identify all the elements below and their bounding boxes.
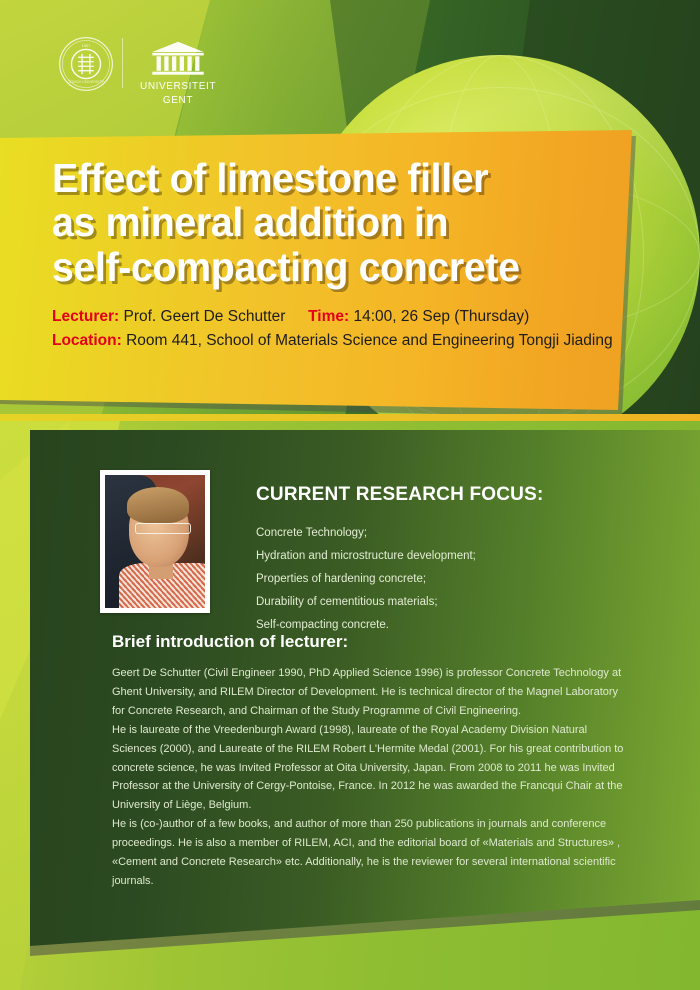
location-row: Location: Room 441, School of Materials … [52, 329, 618, 353]
ghent-logo-line1: UNIVERSITEIT [140, 80, 216, 94]
banner-base-strip [0, 414, 700, 421]
lecturer-time-row: Lecturer: Prof. Geert De Schutter Time: … [52, 305, 618, 329]
title-banner: Effect of limestone filler as mineral ad… [0, 130, 636, 412]
ghent-university-logo: UNIVERSITEIT GENT [140, 40, 216, 107]
title-line-2: as mineral addition in [52, 200, 595, 244]
introduction-paragraph: He is laureate of the Vreedenburgh Award… [112, 721, 632, 816]
lecturer-value: Prof. Geert De Schutter [124, 308, 286, 325]
title-line-3: self-compacting concrete [52, 245, 595, 289]
introduction-paragraph: Geert De Schutter (Civil Engineer 1990, … [112, 664, 632, 721]
time-label: Time: [308, 308, 349, 325]
lecturer-introduction-section: Brief introduction of lecturer: Geert De… [112, 632, 632, 891]
svg-text:TONGJI UNIVERSITY: TONGJI UNIVERSITY [68, 80, 105, 84]
list-item: Concrete Technology; [256, 522, 656, 545]
seminar-poster: 1907 TONGJI UNIVERSITY UNIVERSITEIT GENT… [0, 0, 700, 990]
svg-text:1907: 1907 [82, 43, 91, 48]
list-item: Properties of hardening concrete; [256, 568, 656, 591]
introduction-body: Geert De Schutter (Civil Engineer 1990, … [112, 664, 632, 891]
introduction-heading: Brief introduction of lecturer: [112, 632, 632, 652]
list-item: Hydration and microstructure development… [256, 545, 656, 568]
research-focus-section: CURRENT RESEARCH FOCUS: Concrete Technol… [256, 484, 656, 637]
avatar [100, 470, 210, 613]
lecturer-photo [105, 475, 205, 608]
introduction-paragraph: He is (co-)author of a few books, and au… [112, 815, 632, 891]
list-item: Durability of cementitious materials; [256, 591, 656, 614]
research-focus-heading: CURRENT RESEARCH FOCUS: [256, 484, 656, 506]
location-value: Room 441, School of Materials Science an… [126, 332, 613, 349]
lecturer-label: Lecturer: [52, 308, 119, 325]
event-details: Lecturer: Prof. Geert De Schutter Time: … [52, 305, 618, 353]
title-line-1: Effect of limestone filler [52, 156, 595, 200]
research-focus-list: Concrete Technology; Hydration and micro… [256, 522, 656, 637]
logo-divider [122, 38, 123, 88]
poster-title: Effect of limestone filler as mineral ad… [52, 156, 595, 289]
tongji-university-seal: 1907 TONGJI UNIVERSITY [58, 36, 114, 92]
location-label: Location: [52, 332, 122, 349]
time-value: 14:00, 26 Sep (Thursday) [353, 308, 529, 325]
ghent-logo-line2: GENT [140, 94, 216, 108]
